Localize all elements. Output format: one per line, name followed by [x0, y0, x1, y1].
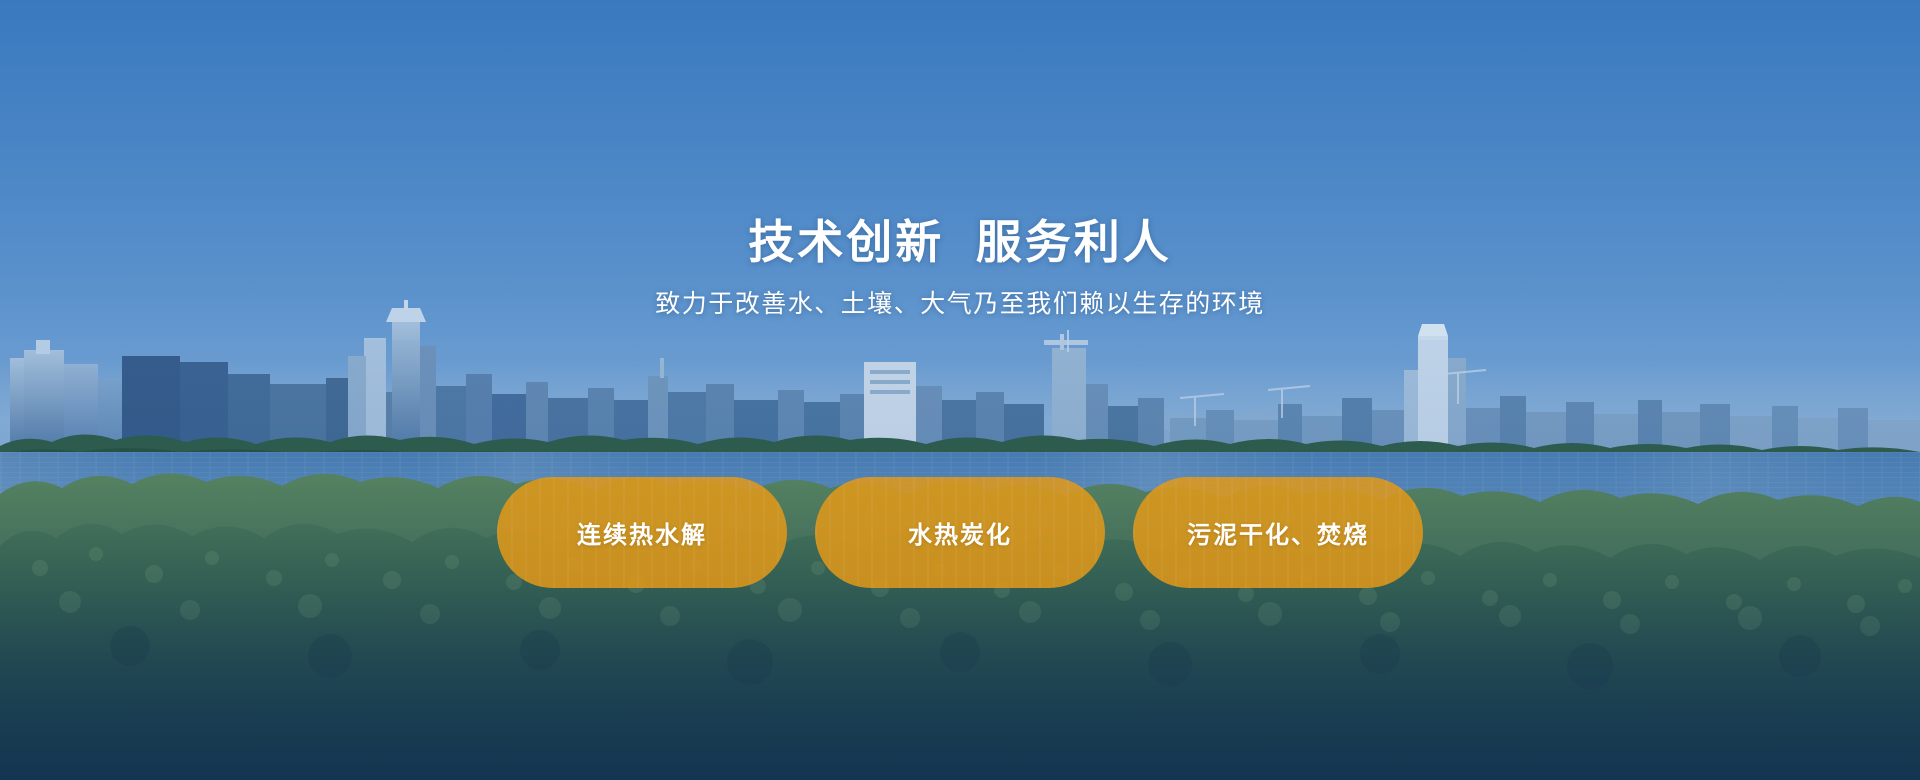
service-button-label: 水热炭化 — [908, 515, 1012, 550]
service-button-row: 连续热水解 水热炭化 污泥干化、焚烧 — [497, 477, 1423, 588]
hero-copy: 技术创新 服务利人 致力于改善水、土壤、大气乃至我们赖以生存的环境 — [0, 212, 1920, 322]
service-button-label: 污泥干化、焚烧 — [1187, 515, 1369, 550]
page-subtitle: 致力于改善水、土壤、大气乃至我们赖以生存的环境 — [0, 286, 1920, 322]
service-button-sludge-drying-incineration[interactable]: 污泥干化、焚烧 — [1133, 477, 1423, 588]
service-button-continuous-thermal-hydrolysis[interactable]: 连续热水解 — [497, 477, 787, 588]
service-button-label: 连续热水解 — [577, 515, 707, 550]
page-title: 技术创新 服务利人 — [0, 212, 1920, 272]
service-button-hydrothermal-carbonization[interactable]: 水热炭化 — [815, 477, 1105, 588]
hero-banner: 技术创新 服务利人 致力于改善水、土壤、大气乃至我们赖以生存的环境 连续热水解 … — [0, 0, 1920, 780]
